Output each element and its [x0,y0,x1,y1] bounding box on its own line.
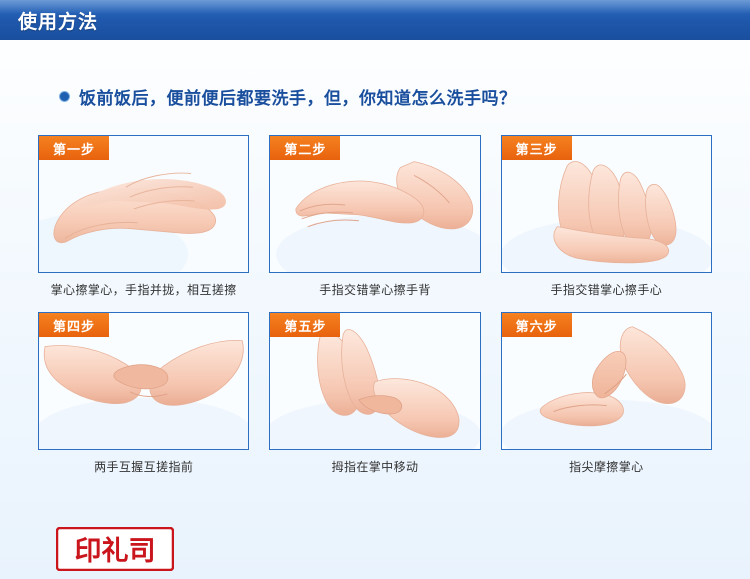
step-card: 第六步 [501,312,712,475]
step-caption: 拇指在掌中移动 [269,458,480,475]
step-badge: 第五步 [270,313,340,337]
step-badge: 第二步 [270,136,340,160]
step-photo: 第一步 [38,135,249,273]
step-photo: 第六步 [501,312,712,450]
step-caption: 手指交错掌心擦手背 [269,281,480,298]
step-badge: 第四步 [39,313,109,337]
step-photo: 第三步 [501,135,712,273]
step-card: 第四步 [38,312,249,475]
step-badge: 第一步 [39,136,109,160]
step-caption: 指尖摩擦掌心 [501,458,712,475]
page-header: 使用方法 [0,0,750,40]
brand-logo: 印礼司 [56,527,174,571]
svg-text:印礼司: 印礼司 [75,535,156,566]
step-card: 第三步 [501,135,712,298]
step-card: 第二步 [269,135,480,298]
step-caption: 掌心擦掌心，手指并拢，相互搓擦 [38,281,249,298]
header-gloss [0,0,750,14]
step-photo: 第四步 [38,312,249,450]
dot-bullet-icon [60,92,69,101]
step-photo: 第二步 [269,135,480,273]
brand-seal-icon: 印礼司 [56,527,174,571]
step-badge: 第三步 [502,136,572,160]
step-caption: 手指交错掌心擦手心 [501,281,712,298]
steps-grid: 第一步 [0,135,750,475]
step-photo: 第五步 [269,312,480,450]
step-caption: 两手互握互搓指前 [38,458,249,475]
intro-text: 饭前饭后，便前便后都要洗手，但，你知道怎么洗手吗？ [79,84,517,109]
page-root: 使用方法 饭前饭后，便前便后都要洗手，但，你知道怎么洗手吗？ 第一步 [0,0,750,579]
page-title: 使用方法 [18,7,98,34]
intro-line: 饭前饭后，便前便后都要洗手，但，你知道怎么洗手吗？ [60,84,750,109]
step-card: 第五步 [269,312,480,475]
step-card: 第一步 [38,135,249,298]
step-badge: 第六步 [502,313,572,337]
